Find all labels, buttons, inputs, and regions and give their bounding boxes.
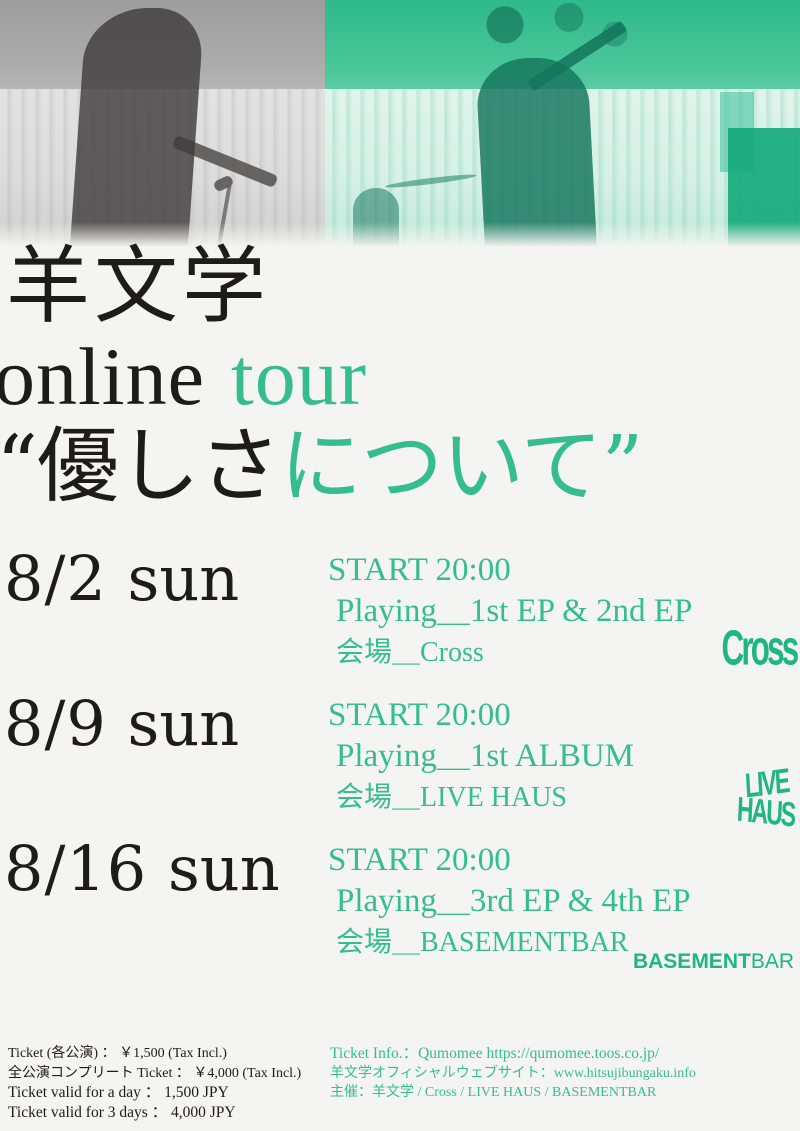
ticket-line: 全公演コンプリート Ticket ： ￥4,000 (Tax Incl.) xyxy=(8,1064,301,1084)
ticket-line: Ticket (各公演) ： ￥1,500 (Tax Incl.) xyxy=(8,1044,301,1064)
online-word: online xyxy=(0,331,205,422)
hero-photo-grayscale-half xyxy=(0,0,325,248)
band-name: 羊文学 xyxy=(6,244,800,328)
show-date-value: 8/2 xyxy=(4,542,107,615)
ticket-info-line[interactable]: Ticket Info.：Qumomee https://qumomee.too… xyxy=(330,1044,696,1064)
show-venue: 会場＿Cross xyxy=(328,632,692,673)
tour-line: onlinetour xyxy=(0,336,800,418)
show-venue: 会場＿LIVE HAUS xyxy=(328,777,634,818)
performer-guitarist-silhouette xyxy=(475,58,597,248)
show-playing: Playing＿1st EP & 2nd EP xyxy=(328,591,692,632)
ticket-line: Ticket valid for 3 days ： 4,000 JPY xyxy=(8,1103,301,1123)
show-row: 8/16 sun START 20:00 Playing＿3rd EP & 4t… xyxy=(0,838,800,983)
venue-logo-line-2: HAUS xyxy=(736,795,794,829)
venue-logo-live-haus: LIVE HAUS xyxy=(737,770,794,827)
show-details: START 20:00 Playing＿1st EP & 2nd EP 会場＿C… xyxy=(328,550,692,673)
venue-logo-light-part: BAR xyxy=(751,950,794,973)
show-start-time: START 20:00 xyxy=(328,695,634,736)
show-date-value: 8/16 xyxy=(4,832,147,905)
venue-logo-bold-part: BASEMENT xyxy=(633,950,751,973)
ticket-line: Ticket valid for a day ： 1,500 JPY xyxy=(8,1083,301,1103)
ticket-links-info: Ticket Info.：Qumomee https://qumomee.too… xyxy=(330,1044,696,1103)
show-date: 8/16 sun xyxy=(4,838,280,900)
hero-photo-duotone xyxy=(0,0,800,248)
performer-violinist-silhouette xyxy=(69,8,204,248)
hero-photo-green-half xyxy=(325,0,800,248)
subtitle-line: “優しさについて” xyxy=(0,422,800,512)
venue-logo-cross: Cross xyxy=(721,621,796,678)
venue-logo-basementbar: BASEMENTBAR xyxy=(633,950,794,974)
show-start-time: START 20:00 xyxy=(328,840,690,881)
show-start-time: START 20:00 xyxy=(328,550,692,591)
ticket-price-info: Ticket (各公演) ： ￥1,500 (Tax Incl.) 全公演コンプ… xyxy=(8,1044,301,1122)
subtitle-black: 優しさ xyxy=(37,419,280,514)
open-quote: “ xyxy=(0,419,37,514)
show-row: 8/9 sun START 20:00 Playing＿1st ALBUM 会場… xyxy=(0,693,800,838)
show-day-value: sun xyxy=(128,542,240,615)
show-playing: Playing＿1st ALBUM xyxy=(328,736,634,777)
show-date-value: 8/9 xyxy=(4,687,107,760)
tour-word: tour xyxy=(231,331,367,422)
official-site-line[interactable]: 羊文学オフィシャルウェブサイト：www.hitsujibungaku.info xyxy=(330,1064,696,1084)
show-day-value: sun xyxy=(168,832,280,905)
show-date: 8/9 sun xyxy=(4,693,239,755)
show-row: 8/2 sun START 20:00 Playing＿1st EP & 2nd… xyxy=(0,548,800,693)
show-details: START 20:00 Playing＿3rd EP & 4th EP 会場＿B… xyxy=(328,840,690,963)
title-block: 羊文学 onlinetour “優しさについて” xyxy=(0,244,800,512)
subtitle-green: について xyxy=(280,419,602,514)
show-playing: Playing＿3rd EP & 4th EP xyxy=(328,881,690,922)
concert-poster: 羊文学 onlinetour “優しさについて” 8/2 sun START 2… xyxy=(0,0,800,1131)
close-quote: ” xyxy=(601,419,642,514)
show-details: START 20:00 Playing＿1st ALBUM 会場＿LIVE HA… xyxy=(328,695,634,818)
show-day-value: sun xyxy=(128,687,240,760)
show-list: 8/2 sun START 20:00 Playing＿1st EP & 2nd… xyxy=(0,548,800,983)
show-date: 8/2 sun xyxy=(4,548,239,610)
organizer-line: 主催：羊文学 / Cross / LIVE HAUS / BASEMENTBAR xyxy=(330,1083,696,1103)
